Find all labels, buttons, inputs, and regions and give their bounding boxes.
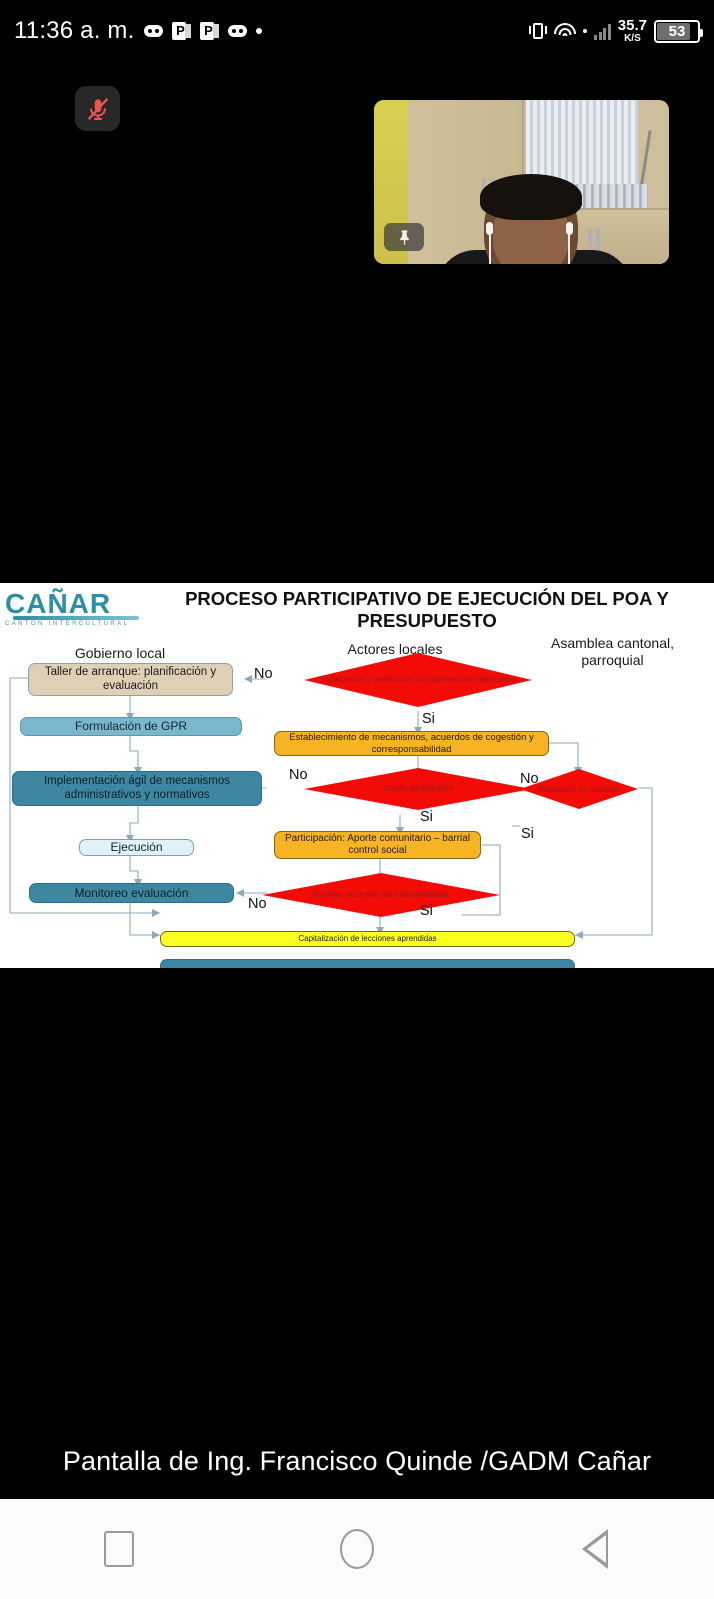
logo-subtitle: CANTÓN INTERCULTURAL — [5, 621, 145, 627]
column-header-gobierno-local: Gobierno local — [25, 645, 215, 662]
microphone-muted-icon[interactable] — [75, 86, 120, 131]
status-clock: 11:36 a. m. — [14, 17, 135, 45]
p-app-icon: P — [200, 21, 219, 41]
square-icon — [104, 1531, 134, 1567]
screen-share-caption: Pantalla de Ing. Francisco Quinde /GADM … — [0, 1440, 714, 1482]
android-navigation-bar — [0, 1499, 714, 1599]
gamepad-icon — [228, 25, 247, 37]
video-earbud-cord — [568, 234, 570, 264]
status-bar-right: 35.7 K/S 53 — [529, 18, 700, 44]
decision-diseno-participativo[interactable]: Diseño participativo — [304, 768, 532, 810]
vibrate-icon — [529, 21, 547, 41]
battery-level: 53 — [656, 23, 698, 40]
canar-logo: CAÑAR CANTÓN INTERCULTURAL — [5, 590, 145, 630]
decision-socializacion-label: Socialización y verificación cumplimient… — [304, 653, 532, 707]
node-ejecucion[interactable]: Ejecución — [79, 839, 194, 856]
back-triangle-icon — [582, 1529, 608, 1569]
decision-diseno-label: Diseño participativo — [304, 768, 532, 810]
logo-wordmark: CAÑAR — [5, 590, 145, 618]
pin-icon[interactable] — [384, 223, 424, 251]
gamepad-icon — [144, 25, 163, 37]
node-establecimiento-mecanismos[interactable]: Establecimiento de mecanismos, acuerdos … — [274, 731, 549, 756]
home-button[interactable] — [297, 1499, 417, 1599]
node-monitoreo-evaluacion[interactable]: Monitoreo evaluación — [29, 883, 234, 903]
decision-entrega-acuerdos[interactable]: Entrega, acuerdos para sostenibilidad — [262, 873, 500, 917]
recents-button[interactable] — [59, 1499, 179, 1599]
edge-label-si-4: Si — [521, 826, 534, 842]
edge-label-si-3: Si — [420, 903, 433, 919]
network-speed-value: 35.7 — [618, 18, 647, 33]
p-app-icon-letter: P — [174, 22, 188, 40]
slide-title: PROCESO PARTICIPATIVO DE EJECUCIÓN DEL P… — [152, 588, 702, 632]
network-speed-unit: K/S — [618, 34, 647, 44]
battery-icon: 53 — [654, 20, 700, 43]
node-participacion-aporte[interactable]: Participación: Aporte comunitario – barr… — [274, 831, 481, 859]
video-person-hair — [480, 174, 582, 220]
decision-socializacion[interactable]: Socialización y verificación cumplimient… — [304, 653, 532, 707]
edge-label-no-4: No — [520, 771, 539, 787]
pin-glyph — [396, 228, 413, 247]
edge-label-no-3: No — [248, 896, 267, 912]
edge-label-si-2: Si — [420, 809, 433, 825]
node-capitalizacion-lecciones[interactable]: Capitalización de lecciones aprendidas — [160, 931, 575, 947]
microphone-muted-glyph — [85, 96, 111, 122]
wifi-dot-icon — [583, 29, 587, 33]
p-app-icon: P — [172, 21, 191, 41]
node-formulacion-gpr[interactable]: Formulación de GPR — [20, 717, 242, 736]
signal-bars-icon — [594, 23, 611, 40]
circle-icon — [340, 1529, 374, 1569]
dot-icon — [256, 28, 262, 34]
status-bar-left: 11:36 a. m. P P — [14, 17, 262, 45]
logo-swoosh — [13, 616, 139, 620]
back-button[interactable] — [535, 1499, 655, 1599]
decision-entrega-label: Entrega, acuerdos para sostenibilidad — [262, 873, 500, 917]
edge-label-no-1: No — [254, 666, 273, 682]
edge-label-si-1: Si — [422, 711, 435, 727]
status-bar: 11:36 a. m. P P — [0, 0, 714, 62]
video-earbud-cord — [489, 234, 491, 264]
shared-screen-slide[interactable]: CAÑAR CANTÓN INTERCULTURAL PROCESO PARTI… — [0, 583, 714, 968]
node-implementacion-agil[interactable]: Implementación ágil de mecanismos admini… — [12, 771, 262, 806]
p-app-icon-letter: P — [202, 22, 216, 40]
network-speed: 35.7 K/S — [618, 18, 647, 44]
phone-screen: 11:36 a. m. P P — [0, 0, 714, 1599]
node-bottom-cut-off[interactable] — [160, 959, 575, 968]
column-header-asamblea-cantonal: Asamblea cantonal, parroquial — [520, 635, 705, 669]
node-taller-arranque[interactable]: Taller de arranque: planificación y eval… — [28, 663, 233, 696]
participant-video-tile[interactable] — [374, 100, 669, 264]
edge-label-no-2: No — [289, 767, 308, 783]
wifi-icon — [554, 23, 576, 40]
